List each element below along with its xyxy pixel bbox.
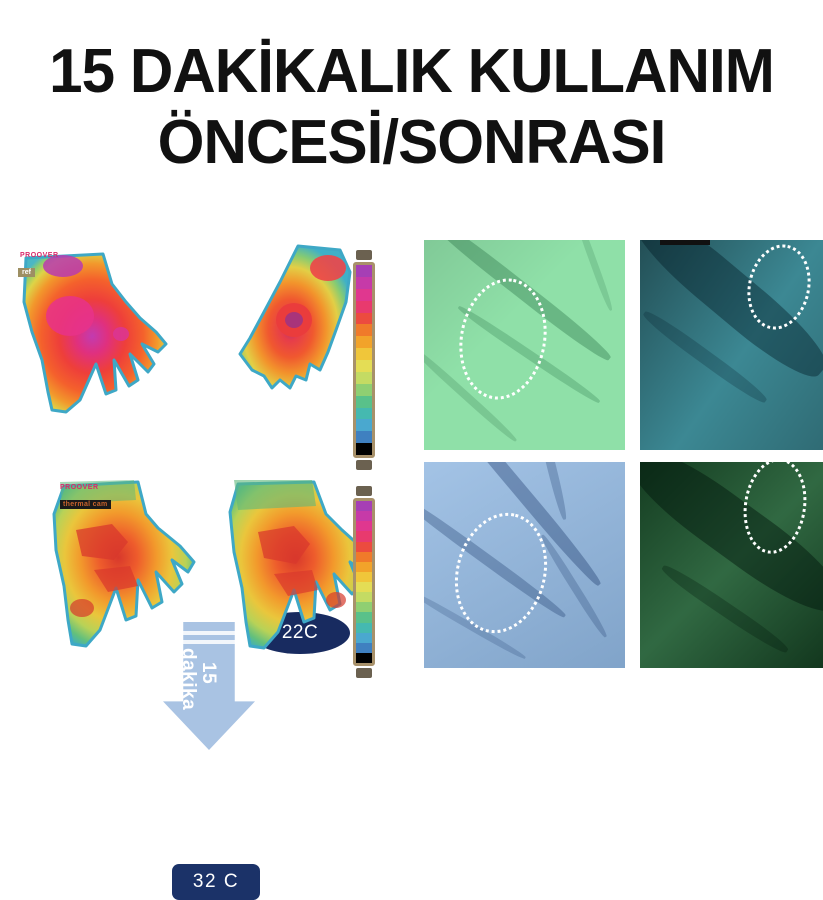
scale-segment xyxy=(356,653,372,663)
scale-gradient-bar-after xyxy=(353,498,375,666)
title-line-1: 15 DAKİKALIK KULLANIM xyxy=(12,42,810,103)
scale-segment xyxy=(356,289,372,301)
scale-segment xyxy=(356,396,372,408)
scale-segment xyxy=(356,324,372,336)
scale-segment xyxy=(356,582,372,592)
poster-root: 15 DAKİKALIK KULLANIM ÖNCESİ/SONRASI xyxy=(0,0,823,823)
scale-segment xyxy=(356,360,372,372)
scale-cap-bottom-after xyxy=(356,668,372,678)
scale-segment xyxy=(356,348,372,360)
scale-segment xyxy=(356,602,372,612)
scale-segment xyxy=(356,408,372,420)
thermal-comparison-section: PROOVER ref xyxy=(0,230,400,690)
scale-gradient-bar xyxy=(353,262,375,458)
scale-segment xyxy=(356,542,372,552)
page-title: 15 DAKİKALIK KULLANIM ÖNCESİ/SONRASI xyxy=(0,42,823,174)
scale-segment xyxy=(356,419,372,431)
scale-segment xyxy=(356,443,372,455)
scale-segment xyxy=(356,265,372,277)
thermal-hand-after-left: PROOVER thermal cam xyxy=(42,480,202,665)
scale-segment xyxy=(356,336,372,348)
title-line-2: ÖNCESİ/SONRASI xyxy=(12,113,810,174)
thermal-watermark-tan: ref xyxy=(18,268,35,277)
thermal-watermark-bar: thermal cam xyxy=(60,500,111,509)
temperature-badge-after: 32 C xyxy=(172,864,260,900)
scale-segment xyxy=(356,562,372,572)
scale-cap-top-after xyxy=(356,486,372,496)
scale-cap-top xyxy=(356,250,372,260)
thermal-color-scale-before xyxy=(352,250,376,470)
scale-segment xyxy=(356,592,372,602)
photo-bottom-left xyxy=(424,462,625,668)
thermal-hand-before-left: PROOVER ref xyxy=(8,240,178,420)
arrow-duration-number: 15 xyxy=(197,662,219,684)
scale-segment xyxy=(356,384,372,396)
scale-segment xyxy=(356,572,372,582)
scale-segment xyxy=(356,633,372,643)
photo-edge-artifact xyxy=(660,240,710,245)
thermal-hand-before-right xyxy=(236,242,356,402)
scale-segment xyxy=(356,301,372,313)
thermal-color-scale-after xyxy=(352,486,376,678)
scale-segment xyxy=(356,372,372,384)
scale-segment xyxy=(356,623,372,633)
photo-top-right xyxy=(640,240,823,450)
scale-segment xyxy=(356,501,372,511)
photo-top-left xyxy=(424,240,625,450)
scale-segment xyxy=(356,431,372,443)
scale-segment xyxy=(356,643,372,653)
scale-segment xyxy=(356,521,372,531)
thermal-watermark-red: PROOVER xyxy=(20,252,59,259)
scale-segment xyxy=(356,511,372,521)
vein-photo-grid xyxy=(424,240,823,668)
scale-segment xyxy=(356,612,372,622)
thermal-watermark-red-after: PROOVER xyxy=(60,484,99,491)
scale-cap-bottom xyxy=(356,460,372,470)
scale-segment xyxy=(356,531,372,541)
scale-segment xyxy=(356,277,372,289)
scale-segment xyxy=(356,313,372,325)
scale-segment xyxy=(356,552,372,562)
photo-bottom-right xyxy=(640,462,823,668)
